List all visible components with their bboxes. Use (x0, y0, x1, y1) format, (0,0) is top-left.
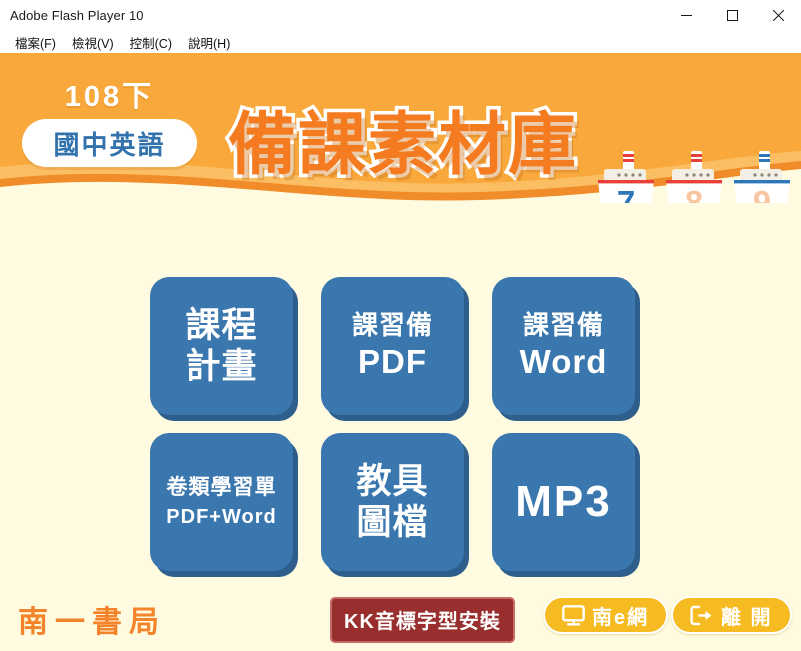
maximize-button[interactable] (709, 0, 755, 31)
exit-icon (690, 605, 714, 626)
tile-line-1: 卷類學習單 (167, 476, 277, 500)
page-title: 備課素材庫 (228, 111, 578, 179)
header-banner: 108下 國中英語 備課素材庫 (0, 53, 801, 203)
tile-line-1: MP3 (515, 477, 611, 526)
window-title: Adobe Flash Player 10 (0, 8, 144, 23)
close-icon (773, 10, 784, 21)
grade-ship-8[interactable]: 8 (663, 149, 725, 203)
menu-item-help[interactable]: 說明(H) (181, 32, 237, 53)
maximize-icon (727, 10, 738, 21)
menu-item-file[interactable]: 檔案(F) (8, 32, 63, 53)
minimize-button[interactable] (663, 0, 709, 31)
menu-item-control[interactable]: 控制(C) (123, 32, 179, 53)
grade-number: 7 (595, 186, 657, 203)
tile-line-1: 課習備 (523, 311, 604, 340)
close-button[interactable] (755, 0, 801, 31)
publisher-logo: 南一書局 (18, 597, 166, 641)
tile-lesson-word[interactable]: 課習備 Word (492, 277, 635, 415)
tile-line-2: PDF (358, 344, 427, 381)
resource-tile-grid: 課程 計畫 課習備 PDF 課習備 Word 卷類學習單 PDF+Word 教具… (150, 277, 650, 571)
tile-line-1: 課程 (185, 306, 257, 345)
title-bar: Adobe Flash Player 10 (0, 0, 801, 31)
nanweb-button[interactable]: 南e網 (543, 596, 668, 634)
flash-player-window: Adobe Flash Player 10 檔案(F) 檢視(V (0, 0, 801, 651)
subject-label: 國中英語 (53, 125, 165, 162)
tile-line-1: 課習備 (352, 311, 433, 340)
kk-font-install-button[interactable]: KK音標字型安裝 (330, 597, 515, 643)
grade-selector: 7 8 (595, 149, 793, 203)
grade-number: 8 (663, 186, 725, 203)
menu-bar: 檔案(F) 檢視(V) 控制(C) 說明(H) (0, 31, 801, 53)
school-year-label: 108下 (22, 83, 197, 112)
tile-worksheet[interactable]: 卷類學習單 PDF+Word (150, 433, 293, 571)
nanweb-label: 南e網 (592, 601, 649, 630)
tile-line-2: 圖檔 (356, 503, 428, 542)
menu-item-view[interactable]: 檢視(V) (65, 32, 121, 53)
grade-ship-9[interactable]: 9 (731, 149, 793, 203)
tile-teaching-aids[interactable]: 教具 圖檔 (321, 433, 464, 571)
exit-label: 離 開 (721, 601, 773, 630)
grade-number: 9 (731, 186, 793, 203)
tile-course-plan[interactable]: 課程 計畫 (150, 277, 293, 415)
footer-bar: 南一書局 KK音標字型安裝 南e網 離 開 (0, 589, 801, 651)
tile-mp3[interactable]: MP3 (492, 433, 635, 571)
tile-lesson-pdf[interactable]: 課習備 PDF (321, 277, 464, 415)
minimize-icon (681, 10, 692, 21)
flash-stage: 108下 國中英語 備課素材庫 (0, 53, 801, 651)
tile-line-2: Word (520, 344, 608, 381)
subject-pill: 國中英語 (22, 119, 197, 167)
window-controls (663, 0, 801, 31)
tile-line-2: PDF+Word (166, 506, 276, 528)
tile-line-2: 計畫 (185, 347, 257, 386)
grade-ship-7[interactable]: 7 (595, 149, 657, 203)
grade-level-badge: 108下 國中英語 (22, 83, 197, 167)
tile-line-1: 教具 (356, 462, 428, 501)
monitor-icon (562, 605, 585, 626)
exit-button[interactable]: 離 開 (671, 596, 792, 634)
